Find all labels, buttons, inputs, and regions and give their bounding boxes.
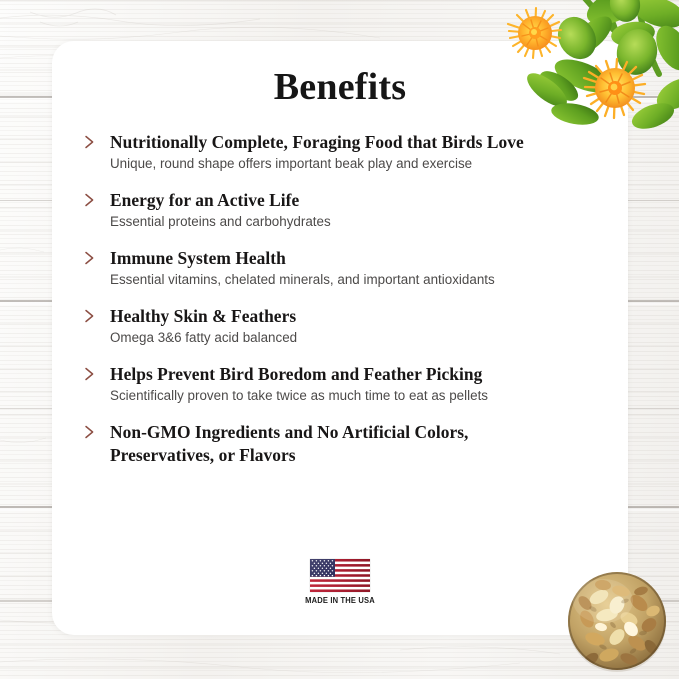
list-item: Healthy Skin & Feathers Omega 3&6 fatty … — [82, 305, 606, 347]
benefits-card: Benefits Nutritionally Complete, Foragin… — [52, 41, 628, 635]
list-item: Non-GMO Ingredients and No Artificial Co… — [82, 421, 606, 467]
benefit-subtext: Scientifically proven to take twice as m… — [110, 387, 606, 405]
benefit-heading: Nutritionally Complete, Foraging Food th… — [110, 131, 606, 154]
benefit-heading: Helps Prevent Bird Boredom and Feather P… — [110, 363, 606, 386]
chevron-right-icon — [84, 309, 96, 323]
benefit-heading: Non-GMO Ingredients and No Artificial Co… — [110, 421, 540, 467]
benefit-heading: Immune System Health — [110, 247, 606, 270]
product-benefits-graphic: Benefits Nutritionally Complete, Foragin… — [0, 0, 679, 679]
benefit-subtext: Essential proteins and carbohydrates — [110, 213, 606, 231]
benefits-list: Nutritionally Complete, Foraging Food th… — [82, 131, 606, 468]
chevron-right-icon — [84, 251, 96, 265]
list-item: Immune System Health Essential vitamins,… — [82, 247, 606, 289]
made-in-usa-caption: MADE IN THE USA — [305, 596, 375, 605]
benefit-subtext: Essential vitamins, chelated minerals, a… — [110, 271, 606, 289]
chevron-right-icon — [84, 425, 96, 439]
benefit-heading: Energy for an Active Life — [110, 189, 606, 212]
made-in-usa-badge: MADE IN THE USA — [302, 559, 378, 605]
list-item: Nutritionally Complete, Foraging Food th… — [82, 131, 606, 173]
list-item: Helps Prevent Bird Boredom and Feather P… — [82, 363, 606, 405]
benefit-heading: Healthy Skin & Feathers — [110, 305, 606, 328]
chevron-right-icon — [84, 135, 96, 149]
benefit-subtext: Unique, round shape offers important bea… — [110, 155, 606, 173]
chevron-right-icon — [84, 193, 96, 207]
list-item: Energy for an Active Life Essential prot… — [82, 189, 606, 231]
page-title: Benefits — [52, 65, 628, 109]
chevron-right-icon — [84, 367, 96, 381]
benefit-subtext: Omega 3&6 fatty acid balanced — [110, 329, 606, 347]
usa-flag-icon — [310, 559, 370, 592]
